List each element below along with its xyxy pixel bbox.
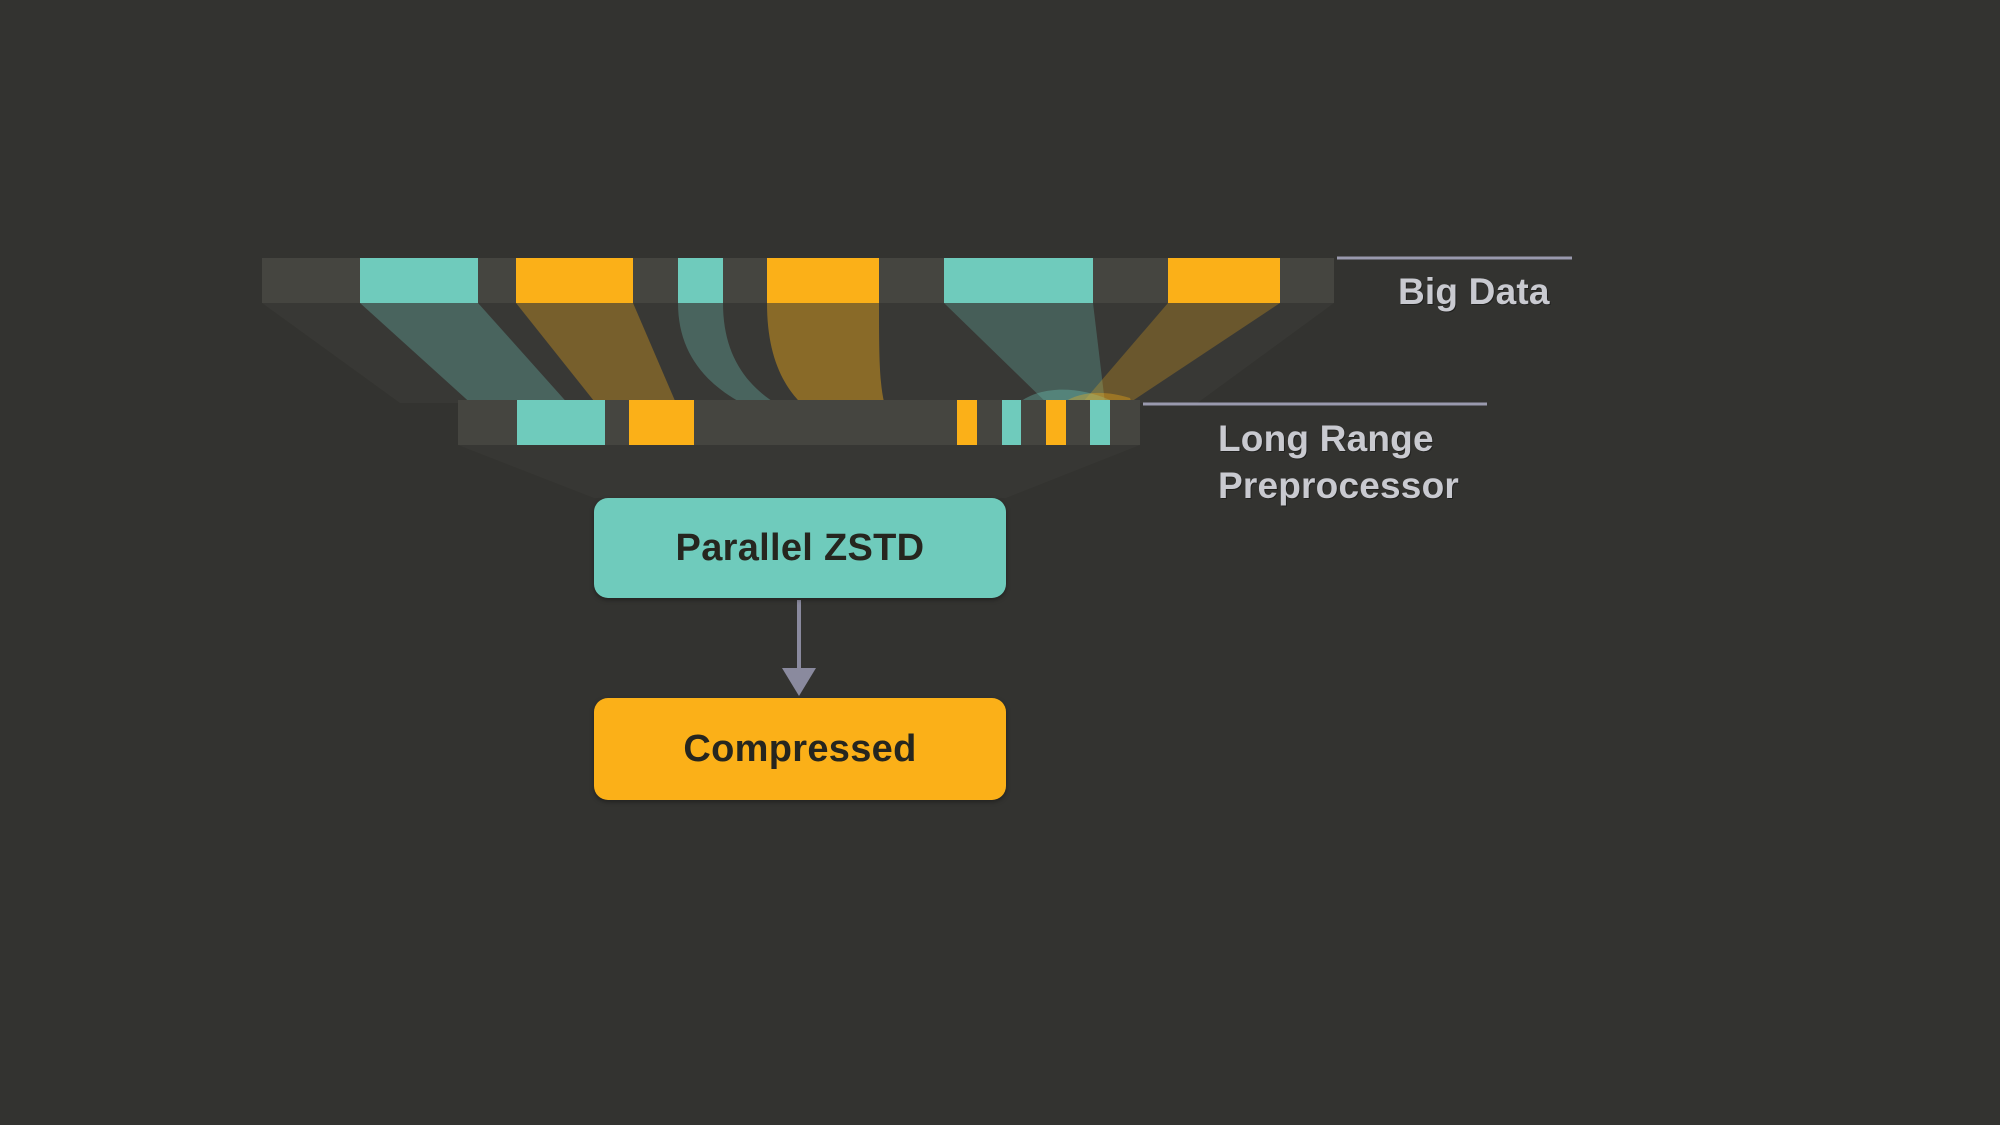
big-data-block-orange-1	[516, 258, 633, 303]
diagram-canvas: Big Data Long Range Preprocessor Paralle…	[0, 0, 2000, 1125]
arrow-head-icon	[782, 668, 816, 696]
long-range-preprocessor-bar	[458, 400, 1140, 445]
node-compressed-label: Compressed	[683, 728, 916, 771]
big-data-bar	[262, 258, 1334, 303]
label-big-data: Big Data	[1398, 268, 1550, 315]
funnel-to-zstd	[458, 445, 1140, 498]
lrp-block-orange-3	[1046, 400, 1066, 445]
lrp-block-teal-1	[517, 400, 605, 445]
lrp-block-orange-1	[629, 400, 694, 445]
big-data-block-orange-2	[767, 258, 879, 303]
lrp-block-orange-2	[957, 400, 977, 445]
lrp-block-teal-2	[1002, 400, 1021, 445]
big-data-block-teal-3	[944, 258, 1093, 303]
big-data-block-teal-2	[678, 258, 723, 303]
big-data-block-orange-3	[1168, 258, 1280, 303]
node-parallel-zstd[interactable]: Parallel ZSTD	[594, 498, 1006, 598]
label-long-range-preprocessor: Long Range Preprocessor	[1218, 415, 1459, 509]
node-parallel-zstd-label: Parallel ZSTD	[676, 527, 925, 570]
node-compressed[interactable]: Compressed	[594, 698, 1006, 800]
arrow-zstd-to-compressed	[782, 600, 816, 696]
lrp-block-teal-3	[1090, 400, 1110, 445]
big-data-block-teal-1	[360, 258, 478, 303]
